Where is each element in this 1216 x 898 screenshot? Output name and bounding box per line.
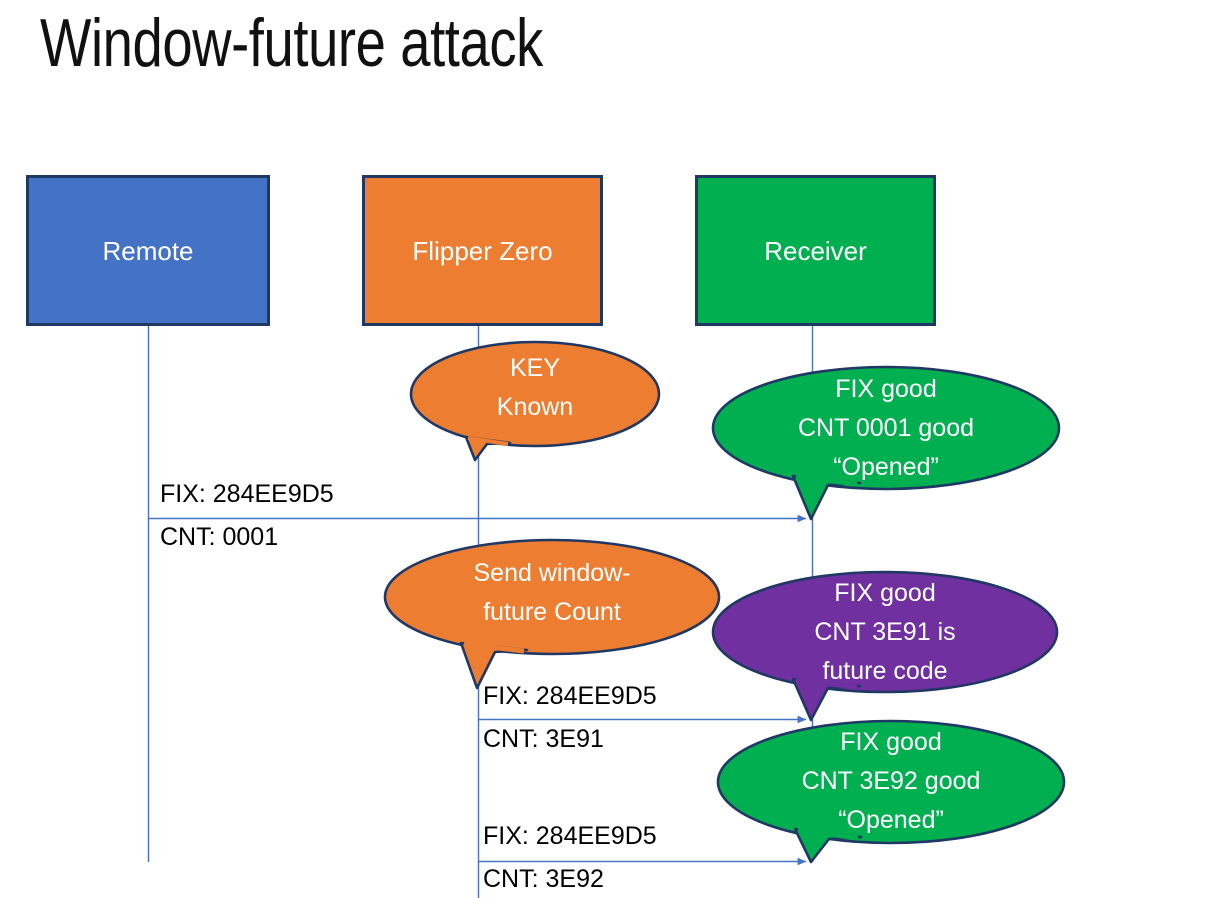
page-title: Window-future attack (40, 8, 920, 79)
lane-box-receiver[interactable]: Receiver (695, 175, 936, 326)
callout-text-key-known: KEY Known (455, 349, 615, 427)
lane-box-flipper-zero[interactable]: Flipper Zero (362, 175, 603, 326)
callout-fix-good-3e92[interactable] (718, 721, 1064, 862)
callout-text-send-window-future-count: Send window- future Count (422, 554, 682, 632)
lane-label-flipper-zero: Flipper Zero (412, 238, 552, 264)
message-label-2-fix: FIX: 284EE9D5 (483, 684, 657, 709)
callout-text-fix-good-0001: FIX good CNT 0001 good “Opened” (756, 370, 1016, 487)
callout-fix-good-3e91-future[interactable] (713, 572, 1057, 720)
diagram-vector-layer (0, 0, 1216, 898)
callout-text-fix-good-3e91-future: FIX good CNT 3E91 is future code (755, 574, 1015, 691)
message-label-2-cnt: CNT: 3E91 (483, 727, 604, 752)
callout-fix-good-0001[interactable] (713, 367, 1059, 519)
callout-text-fix-good-3e92: FIX good CNT 3E92 good “Opened” (761, 723, 1021, 840)
callout-send-window-future-count[interactable] (385, 540, 719, 688)
callout-key-known[interactable] (411, 342, 659, 460)
lane-label-receiver: Receiver (764, 238, 867, 264)
message-label-1-cnt: CNT: 0001 (160, 525, 278, 550)
message-label-3-fix: FIX: 284EE9D5 (483, 824, 657, 849)
message-label-1-fix: FIX: 284EE9D5 (160, 482, 334, 507)
lane-label-remote: Remote (102, 238, 193, 264)
message-label-3-cnt: CNT: 3E92 (483, 867, 604, 892)
lane-box-remote[interactable]: Remote (26, 175, 270, 326)
slide-canvas: Window-future attack Remote Flipper Zero… (0, 0, 1216, 898)
